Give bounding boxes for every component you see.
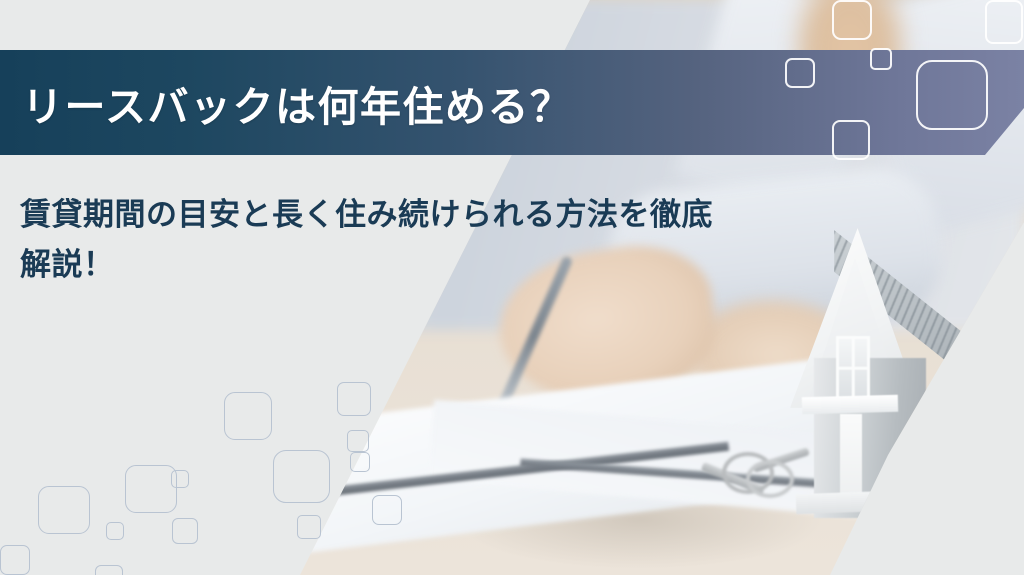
key-ring-right: [746, 460, 794, 498]
decoration-square: [38, 486, 90, 534]
page-subtitle: 賃貸期間の目安と長く住み続けられる方法を徹底解説！: [20, 190, 720, 290]
decoration-square: [297, 515, 321, 539]
decoration-square: [172, 518, 198, 544]
decoration-square: [832, 120, 870, 160]
decoration-square: [350, 452, 370, 472]
decoration-square: [985, 0, 1023, 44]
keys-icon: [700, 448, 830, 518]
decoration-square: [171, 470, 189, 488]
decoration-square: [106, 522, 124, 540]
hero-banner: リースバックは何年住める？ 賃貸期間の目安と長く住み続けられる方法を徹底解説！: [0, 0, 1024, 575]
decoration-square: [832, 0, 872, 40]
house-canopy: [802, 395, 898, 415]
house-window: [836, 336, 870, 400]
decoration-square: [870, 48, 892, 70]
decoration-square: [785, 58, 815, 88]
decoration-square: [224, 392, 272, 440]
decoration-square: [372, 495, 402, 525]
decoration-square: [916, 60, 988, 130]
page-title: リースバックは何年住める？: [22, 73, 572, 133]
decoration-square: [347, 430, 369, 452]
decoration-square: [273, 450, 330, 503]
decoration-square: [95, 565, 123, 575]
decoration-square: [0, 545, 30, 575]
decoration-square: [125, 465, 177, 513]
decoration-square: [337, 382, 371, 416]
